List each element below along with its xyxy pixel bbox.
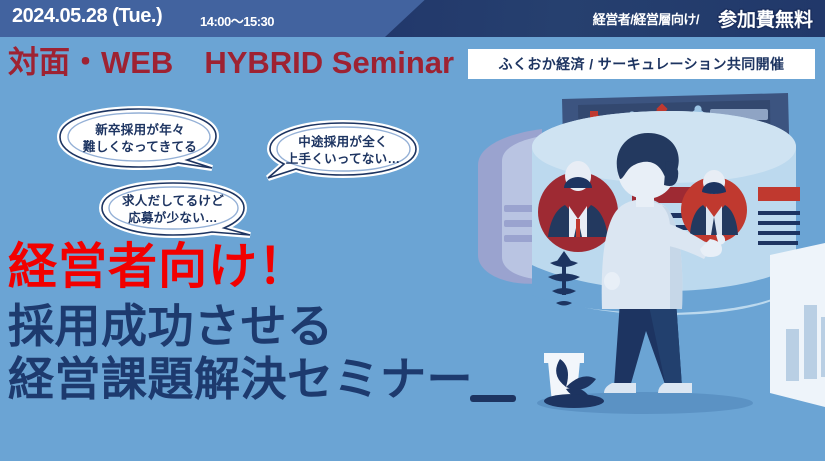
speech-bubble-3: 求人だしてるけど 応募が少ない… (84, 180, 262, 240)
speech-bubble-1: 新卒採用が年々 難しくなってきてる (44, 106, 236, 172)
cohost-box: ふくおか経済 / サーキュレーション共同開催 (468, 49, 815, 79)
hybrid-seminar-title: 対面・WEB HYBRID Seminar (8, 37, 454, 82)
target-audience-label: 経営者/経営層向け/ (593, 9, 699, 28)
speech-bubble-1-text: 新卒採用が年々 難しくなってきてる (44, 106, 236, 172)
free-admission-badge: 参加費無料 (718, 5, 813, 32)
event-time: 14:00〜15:30 (200, 11, 274, 30)
speech-bubble-2: 中途採用が全く 上手くいってない… (256, 120, 430, 182)
headline-line-1: 経営者向け！ (8, 243, 628, 292)
bubble-3-line-1: 求人だしてるけど (122, 193, 224, 210)
speech-bubble-3-text: 求人だしてるけど 応募が少ない… (84, 180, 262, 240)
bubble-3-line-2: 応募が少ない… (128, 210, 218, 227)
cohost-label: ふくおか経済 / サーキュレーション共同開催 (499, 54, 785, 74)
headline-line-3: 経営課題解決セミナー (8, 353, 628, 406)
header-second-band: 対面・WEB HYBRID Seminar ふくおか経済 / サーキュレーション… (0, 37, 825, 87)
event-date: 2024.05.28 (Tue.) (12, 5, 162, 28)
headline-line-2: 採用成功させる (8, 300, 628, 353)
bubble-2-line-1: 中途採用が全く (298, 134, 388, 151)
bubble-2-line-2: 上手くいってない… (286, 151, 401, 168)
bubble-1-line-1: 新卒採用が年々 (95, 122, 185, 139)
bubble-1-line-2: 難しくなってきてる (83, 139, 197, 156)
speech-bubble-2-text: 中途採用が全く 上手くいってない… (256, 120, 430, 182)
bar-chart-card (770, 243, 825, 407)
header-top-band: 2024.05.28 (Tue.) 14:00〜15:30 経営者/経営層向け/… (0, 0, 825, 37)
main-headline: 経営者向け！ 採用成功させる 経営課題解決セミナー (8, 243, 628, 407)
seminar-banner: 2024.05.28 (Tue.) 14:00〜15:30 経営者/経営層向け/… (0, 0, 825, 461)
